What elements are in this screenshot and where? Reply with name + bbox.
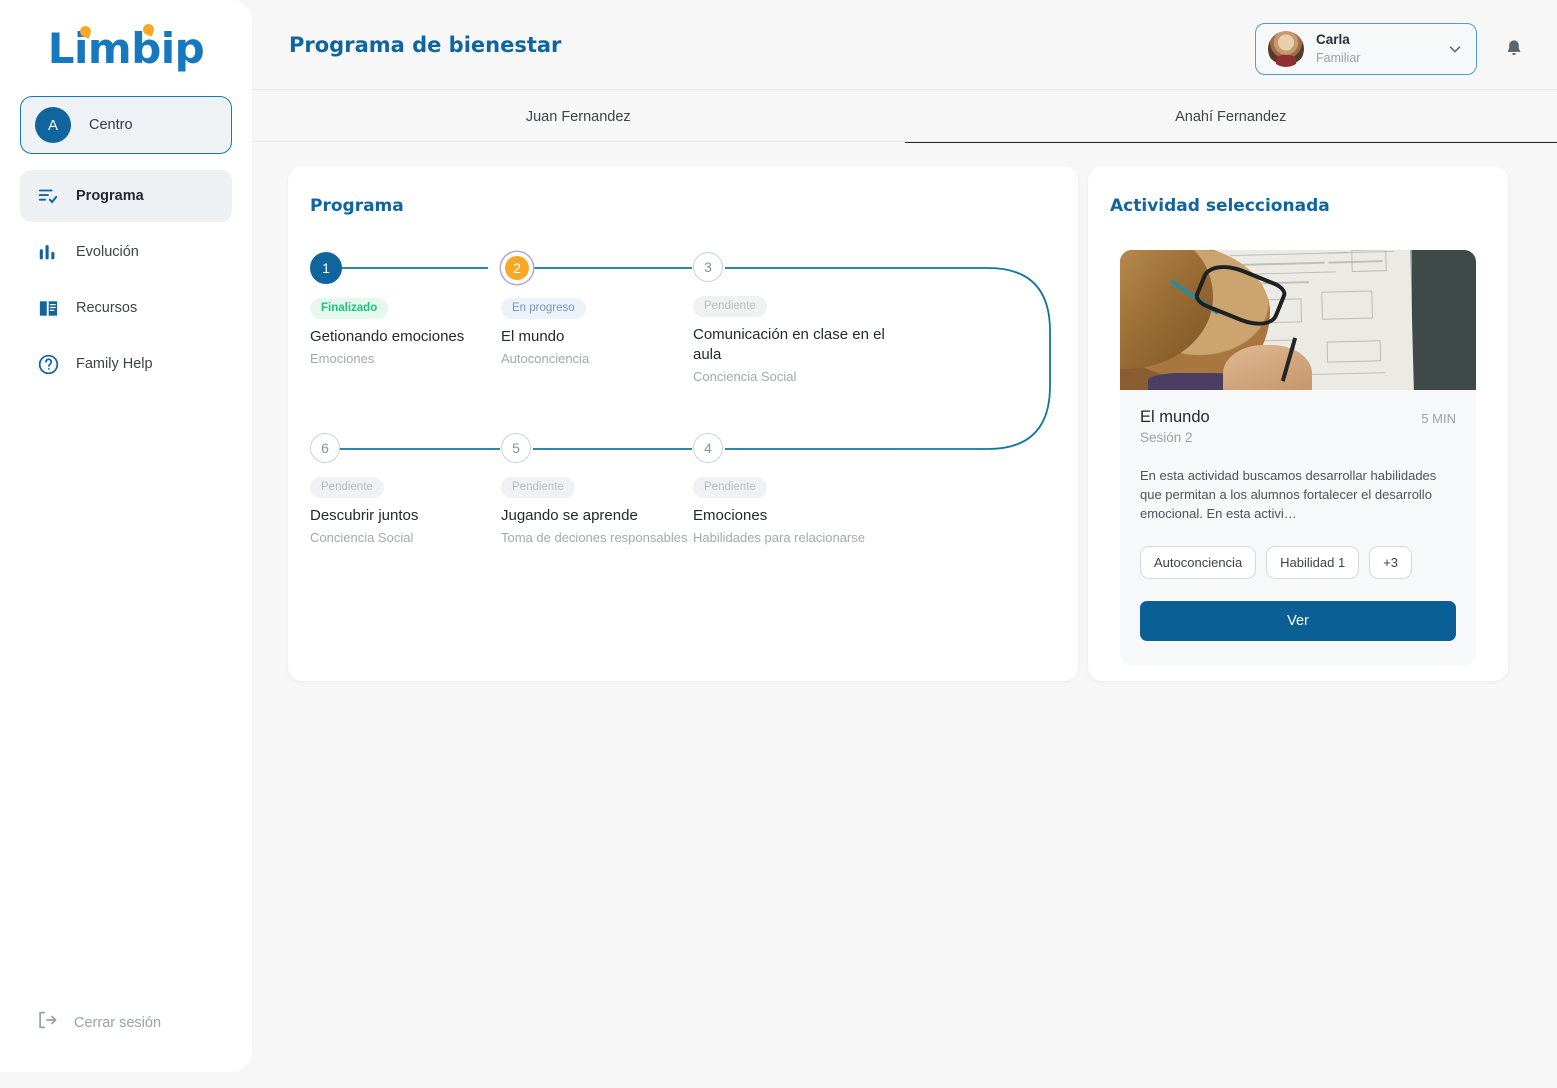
step-name: El mundo bbox=[501, 327, 696, 347]
student-tabs: Juan Fernandez Anahí Fernandez bbox=[252, 89, 1557, 143]
skill-chip[interactable]: Habilidad 1 bbox=[1266, 546, 1359, 579]
student-hand-shape bbox=[1223, 345, 1312, 390]
actividad-seleccionada-card: Actividad seleccionada bbox=[1088, 166, 1508, 681]
org-selector-centro[interactable]: A Centro bbox=[20, 96, 232, 154]
logout-button[interactable]: Cerrar sesión bbox=[36, 1009, 161, 1036]
chalkboard-shape bbox=[1412, 250, 1476, 390]
step-number-badge[interactable]: 4 bbox=[693, 433, 723, 463]
activity-thumbnail-image bbox=[1120, 250, 1476, 390]
logout-icon bbox=[36, 1009, 58, 1036]
tab-juan-fernandez[interactable]: Juan Fernandez bbox=[252, 90, 905, 143]
timeline-connector bbox=[288, 166, 1078, 681]
tab-anahi-fernandez[interactable]: Anahí Fernandez bbox=[905, 90, 1557, 143]
user-name: Carla bbox=[1316, 31, 1434, 49]
timeline-step-2[interactable]: 2 En progreso El mundo Autoconciencia bbox=[501, 252, 696, 367]
brand-logo[interactable]: Limbip bbox=[0, 0, 252, 96]
tabs-divider bbox=[252, 141, 1557, 142]
activity-name: El mundo bbox=[1140, 408, 1210, 427]
sidebar-item-label: Programa bbox=[76, 188, 144, 204]
step-number-badge[interactable]: 3 bbox=[693, 252, 723, 282]
sidebar-item-recursos[interactable]: Recursos bbox=[20, 282, 232, 334]
activity-detail: El mundo 5 MIN Sesión 2 En esta activida… bbox=[1120, 250, 1476, 665]
step-name: Jugando se aprende bbox=[501, 506, 696, 526]
status-badge: En progreso bbox=[501, 298, 586, 319]
step-name: Emociones bbox=[693, 506, 888, 526]
user-role: Familiar bbox=[1316, 50, 1434, 67]
step-number-badge[interactable]: 6 bbox=[310, 433, 340, 463]
org-label: Centro bbox=[89, 117, 133, 133]
step-number-badge[interactable]: 1 bbox=[310, 252, 342, 284]
brand-name: Limbip bbox=[48, 24, 204, 73]
timeline-step-3[interactable]: 3 Pendiente Comunicación en clase en el … bbox=[693, 252, 888, 385]
timeline-step-5[interactable]: 5 Pendiente Jugando se aprende Toma de d… bbox=[501, 433, 696, 546]
skill-chip[interactable]: Autoconciencia bbox=[1140, 546, 1256, 579]
step-category: Conciencia Social bbox=[693, 368, 888, 385]
timeline-step-6[interactable]: 6 Pendiente Descubrir juntos Conciencia … bbox=[310, 433, 505, 546]
page-title: Programa de bienestar bbox=[289, 33, 561, 57]
status-badge: Pendiente bbox=[693, 477, 767, 498]
sidebar-nav: A Centro Programa Evolución bbox=[0, 96, 252, 390]
ver-button[interactable]: Ver bbox=[1140, 601, 1456, 641]
sidebar-item-label: Family Help bbox=[76, 356, 153, 372]
bar-chart-icon bbox=[36, 240, 60, 264]
timeline-step-4[interactable]: 4 Pendiente Emociones Habilidades para r… bbox=[693, 433, 888, 546]
app-header: Programa de bienestar Carla Familiar bbox=[252, 0, 1557, 90]
sidebar-item-programa[interactable]: Programa bbox=[20, 170, 232, 222]
sidebar-item-evolucion[interactable]: Evolución bbox=[20, 226, 232, 278]
sidebar-item-family-help[interactable]: Family Help bbox=[20, 338, 232, 390]
tab-label: Anahí Fernandez bbox=[1175, 109, 1286, 125]
programa-card-title: Programa bbox=[310, 196, 404, 216]
status-badge: Finalizado bbox=[310, 298, 388, 319]
step-category: Habilidades para relacionarse bbox=[693, 529, 888, 546]
org-avatar: A bbox=[35, 107, 71, 143]
logout-label: Cerrar sesión bbox=[74, 1015, 161, 1031]
step-category: Toma de deciones responsables bbox=[501, 529, 696, 546]
activity-description: En esta actividad buscamos desarrollar h… bbox=[1140, 467, 1456, 524]
step-name: Getionando emociones bbox=[310, 327, 505, 347]
step-name: Comunicación en clase en el aula bbox=[693, 325, 888, 365]
chevron-down-icon bbox=[1446, 40, 1464, 58]
status-badge: Pendiente bbox=[501, 477, 575, 498]
bell-icon[interactable] bbox=[1503, 38, 1525, 60]
skill-chip-more[interactable]: +3 bbox=[1369, 546, 1412, 579]
sidebar-item-label: Evolución bbox=[76, 244, 139, 260]
sidebar-item-label: Recursos bbox=[76, 300, 137, 316]
checklist-icon bbox=[36, 184, 60, 208]
status-badge: Pendiente bbox=[693, 296, 767, 317]
step-number-badge[interactable]: 2 bbox=[505, 256, 529, 280]
activity-session: Sesión 2 bbox=[1140, 430, 1456, 445]
sidebar: Limbip A Centro Programa bbox=[0, 0, 252, 1072]
step-category: Emociones bbox=[310, 350, 505, 367]
step-name: Descubrir juntos bbox=[310, 506, 505, 526]
activity-skill-chips: Autoconciencia Habilidad 1 +3 bbox=[1140, 546, 1456, 579]
step-number-badge[interactable]: 5 bbox=[501, 433, 531, 463]
question-circle-icon bbox=[36, 352, 60, 376]
programa-card: Programa 1 Finalizado Getionando emocion… bbox=[288, 166, 1078, 681]
user-menu-button[interactable]: Carla Familiar bbox=[1255, 23, 1477, 75]
timeline-step-1[interactable]: 1 Finalizado Getionando emociones Emocio… bbox=[310, 252, 505, 367]
tab-label: Juan Fernandez bbox=[526, 109, 631, 125]
status-badge: Pendiente bbox=[310, 477, 384, 498]
actividad-card-title: Actividad seleccionada bbox=[1110, 196, 1330, 216]
avatar bbox=[1268, 31, 1304, 67]
activity-duration: 5 MIN bbox=[1421, 408, 1456, 426]
step-category: Autoconciencia bbox=[501, 350, 696, 367]
book-icon bbox=[36, 296, 60, 320]
step-category: Conciencia Social bbox=[310, 529, 505, 546]
